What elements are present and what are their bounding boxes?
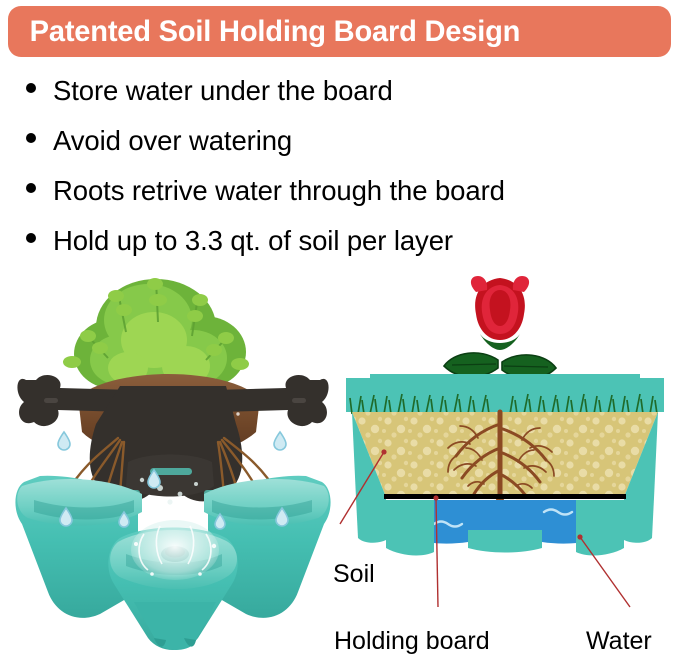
feature-text: Hold up to 3.3 qt. of soil per layer bbox=[53, 216, 453, 266]
feature-text: Store water under the board bbox=[53, 66, 393, 116]
illustration-row bbox=[0, 262, 679, 665]
pot-rim bbox=[346, 374, 664, 412]
bullet-dot-icon bbox=[26, 183, 36, 193]
feature-bullet-list: Store water under the board Avoid over w… bbox=[0, 66, 679, 266]
page-title: Patented Soil Holding Board Design bbox=[8, 15, 520, 49]
label-holding-board: Holding board bbox=[334, 627, 490, 656]
label-soil: Soil bbox=[333, 560, 375, 589]
feature-text: Avoid over watering bbox=[53, 116, 292, 166]
holding-board-line bbox=[384, 494, 626, 499]
cross-section-diagram bbox=[330, 262, 679, 665]
list-item: Hold up to 3.3 qt. of soil per layer bbox=[0, 216, 679, 266]
header-banner: Patented Soil Holding Board Design bbox=[8, 6, 671, 57]
list-item: Store water under the board bbox=[0, 66, 679, 116]
bullet-dot-icon bbox=[26, 83, 36, 93]
bullet-dot-icon bbox=[26, 233, 36, 243]
list-item: Avoid over watering bbox=[0, 116, 679, 166]
list-item: Roots retrive water through the board bbox=[0, 166, 679, 216]
water-splash bbox=[131, 520, 219, 580]
product-photo-planter bbox=[8, 262, 338, 652]
bullet-dot-icon bbox=[26, 133, 36, 143]
feature-text: Roots retrive water through the board bbox=[53, 166, 505, 216]
rose-bloom bbox=[471, 276, 529, 340]
label-water: Water bbox=[586, 627, 652, 656]
